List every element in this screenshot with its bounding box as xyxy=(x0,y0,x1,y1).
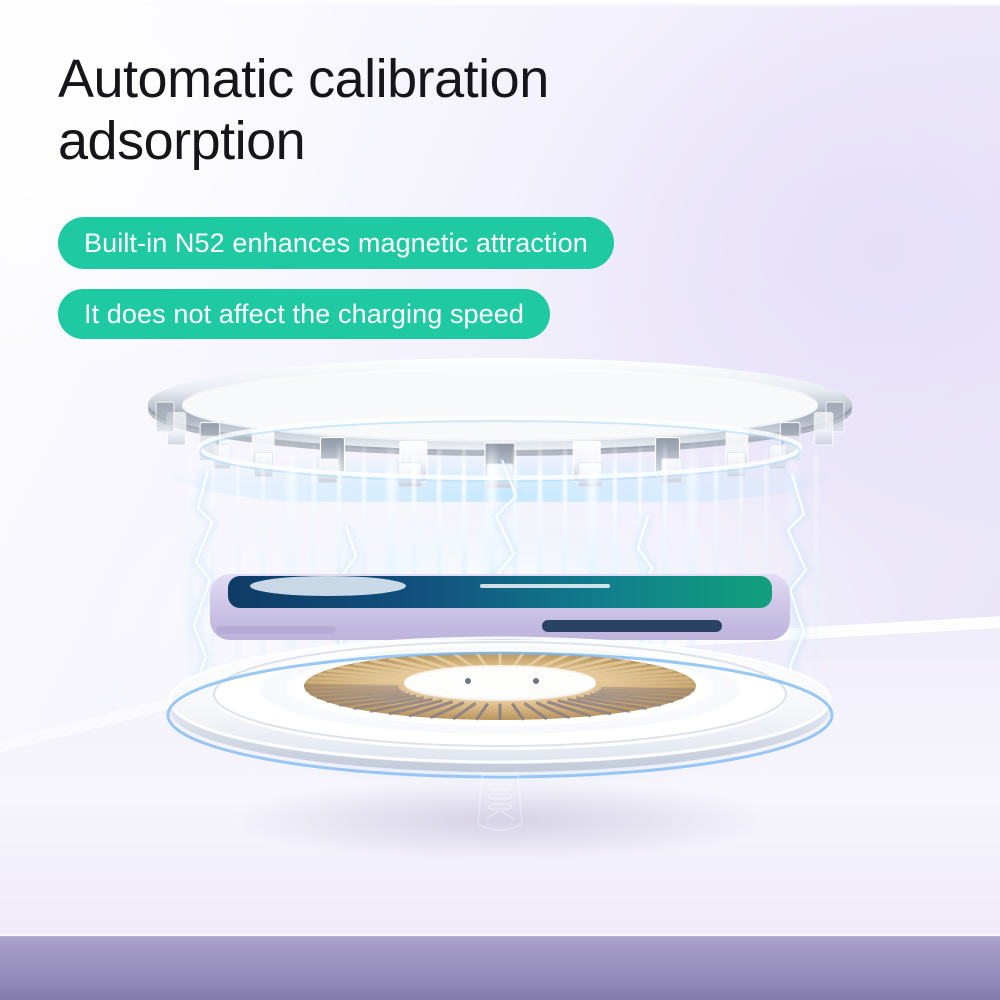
product-banner: Automatic calibration adsorption Built-i… xyxy=(0,0,1000,1000)
page-title: Automatic calibration adsorption xyxy=(58,48,838,172)
headline-line-2: adsorption xyxy=(58,110,838,172)
feature-badge-magnetic: Built-in N52 enhances magnetic attractio… xyxy=(58,217,614,269)
feature-badge-charging-speed: It does not affect the charging speed xyxy=(58,289,550,339)
charger-graphic xyxy=(150,560,850,790)
charging-pad xyxy=(168,638,832,777)
top-edge-strip xyxy=(0,0,1000,7)
watermark-graphic xyxy=(469,772,531,842)
brand-watermark xyxy=(469,772,531,842)
phone xyxy=(210,574,790,640)
podium-front-face xyxy=(0,936,1000,1000)
headline-line-1: Automatic calibration xyxy=(58,49,549,109)
charger-and-phone xyxy=(150,560,850,790)
